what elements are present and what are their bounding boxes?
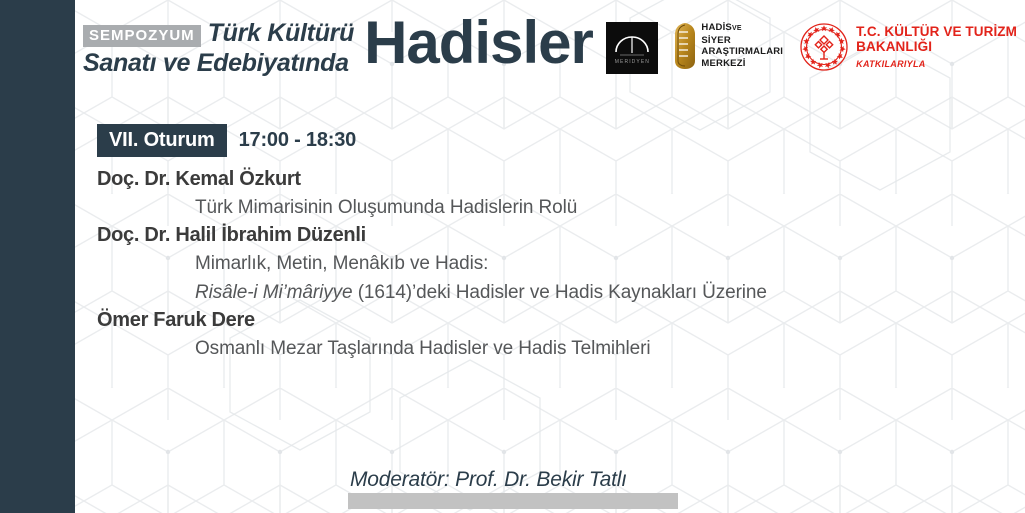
- sponsor-logos: MERIDYEN: [606, 22, 1017, 74]
- list-item: Doç. Dr. Kemal Özkurt Türk Mimarisinin O…: [97, 166, 997, 222]
- hadis-line1-small: VE: [732, 25, 742, 32]
- moderator-label: Moderatör: Prof. Dr. Bekir Tatlı: [348, 468, 678, 492]
- session-time: 17:00 - 18:30: [227, 124, 356, 157]
- talk-title-continued: Risâle-i Mi’mâriyye (1614)’deki Hadisler…: [195, 278, 997, 307]
- hadis-siyer-logo: HADİSVE SİYER ARAŞTIRMALARI MERKEZİ: [674, 22, 783, 69]
- meridyen-logo: MERIDYEN: [606, 22, 658, 74]
- ministry-logo-text: T.C. KÜLTÜR VE TURİZM BAKANLIĞI KATKILAR…: [856, 24, 1017, 71]
- title-subtitle-group: SEMPOZYUM Türk Kültürü Sanatı ve Edebiya…: [83, 12, 354, 76]
- ministry-line1: T.C. KÜLTÜR VE TURİZM: [856, 24, 1017, 39]
- gold-emblem-icon: [674, 23, 696, 69]
- hadis-siyer-logo-text: HADİSVE SİYER ARAŞTIRMALARI MERKEZİ: [701, 22, 783, 69]
- title-subtitle-line2: Sanatı ve Edebiyatında: [83, 49, 349, 77]
- speaker-name: Doç. Dr. Halil İbrahim Düzenli: [97, 222, 997, 249]
- ministry-line2: BAKANLIĞI: [856, 39, 1017, 54]
- talk-title-italic-part: Risâle-i Mi’mâriyye: [195, 282, 353, 303]
- session-badge: VII. Oturum: [97, 124, 227, 157]
- list-item: Doç. Dr. Halil İbrahim Düzenli Mimarlık,…: [97, 222, 997, 307]
- speaker-name: Ömer Faruk Dere: [97, 307, 997, 334]
- page-title: Hadisler: [364, 14, 593, 72]
- talk-title: Mimarlık, Metin, Menâkıb ve Hadis:: [195, 249, 997, 278]
- moderator-block: Moderatör: Prof. Dr. Bekir Tatlı: [348, 468, 678, 509]
- poster-header: SEMPOZYUM Türk Kültürü Sanatı ve Edebiya…: [75, 0, 1025, 100]
- ministry-logo: T.C. KÜLTÜR VE TURİZM BAKANLIĞI KATKILAR…: [799, 22, 1017, 72]
- talk-title-rest: (1614)’deki Hadisler ve Hadis Kaynakları…: [353, 282, 767, 303]
- moderator-highlight-bar: [348, 493, 678, 509]
- title-line-one: SEMPOZYUM Türk Kültürü: [83, 20, 354, 46]
- talk-title: Osmanlı Mezar Taşlarında Hadisler ve Had…: [195, 334, 997, 363]
- hadis-line4: MERKEZİ: [701, 58, 783, 70]
- meridyen-logo-label: MERIDYEN: [606, 59, 658, 65]
- title-line-two: Sanatı ve Edebiyatında: [83, 50, 354, 76]
- hadis-line3: ARAŞTIRMALARI: [701, 46, 783, 58]
- title-block: SEMPOZYUM Türk Kültürü Sanatı ve Edebiya…: [83, 12, 593, 76]
- list-item: Ömer Faruk Dere Osmanlı Mezar Taşlarında…: [97, 307, 997, 363]
- session-header: VII. Oturum 17:00 - 18:30: [97, 124, 997, 157]
- title-subtitle-line1: Türk Kültürü: [208, 20, 354, 46]
- dome-arc-icon: [606, 22, 658, 74]
- date-sidebar: 25 Kasım Perşembe: [0, 0, 75, 513]
- speaker-name: Doç. Dr. Kemal Özkurt: [97, 166, 997, 193]
- ministry-line3: KATKILARIYLA: [856, 57, 1017, 71]
- sidebar-date-label: 25 Kasım Perşembe: [0, 438, 75, 513]
- talk-title: Türk Mimarisinin Oluşumunda Hadislerin R…: [195, 193, 997, 222]
- hadis-line1: HADİS: [701, 22, 732, 33]
- hadis-line2: SİYER: [701, 35, 783, 47]
- sempozyum-kicker-badge: SEMPOZYUM: [83, 25, 201, 47]
- session-content: VII. Oturum 17:00 - 18:30 Doç. Dr. Kemal…: [97, 124, 997, 363]
- ministry-seal-icon: [799, 22, 849, 72]
- symposium-poster: 25 Kasım Perşembe SEMPOZYUM Türk Kültürü…: [0, 0, 1025, 513]
